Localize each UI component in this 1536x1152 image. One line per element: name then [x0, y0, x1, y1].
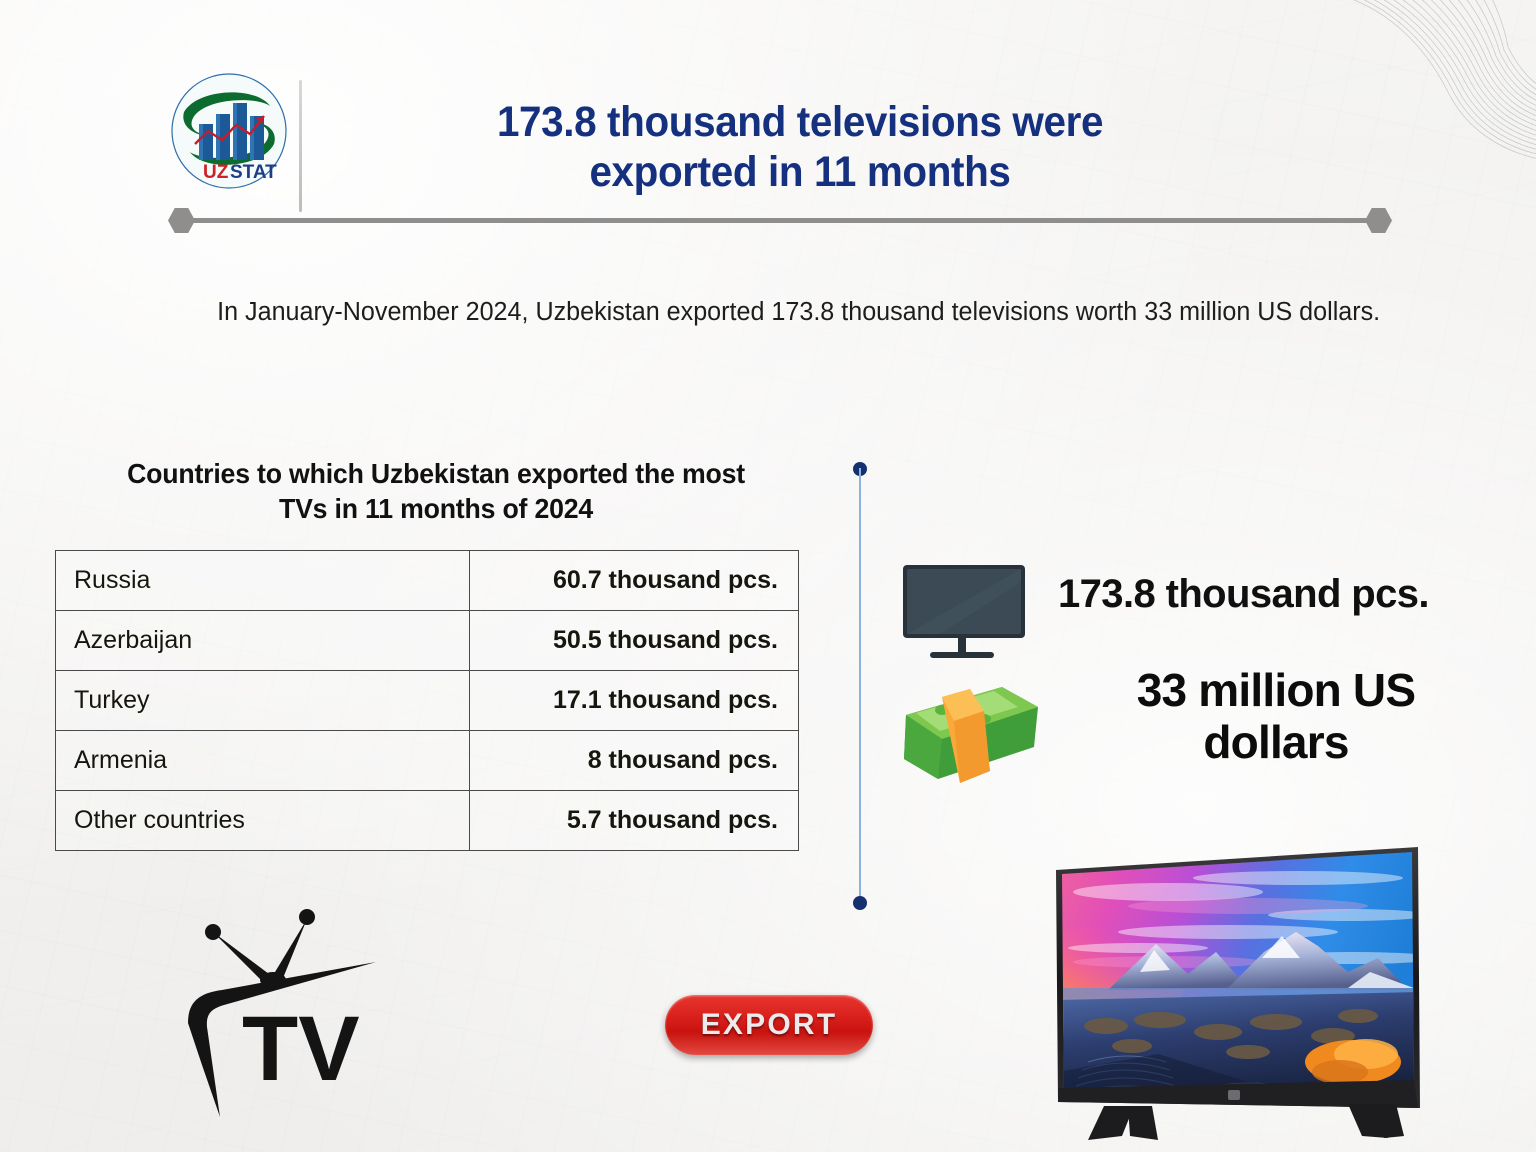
- logo-text-uz: UZ: [203, 162, 229, 183]
- stat-quantity-block: 173.8 thousand pcs.: [900, 560, 1520, 670]
- table-row: Turkey 17.1 thousand pcs.: [56, 671, 799, 731]
- table-cell-value: 8 thousand pcs.: [470, 731, 799, 791]
- page-title-line-1: 173.8 thousand televisions were: [358, 98, 1242, 148]
- intro-paragraph: In January-November 2024, Uzbekistan exp…: [160, 292, 1426, 332]
- export-badge-label: EXPORT: [701, 1008, 838, 1042]
- table-cell-value: 60.7 thousand pcs.: [470, 551, 799, 611]
- table-row: Armenia 8 thousand pcs.: [56, 731, 799, 791]
- logo-vertical-divider: [299, 80, 302, 212]
- stat-value-label-line-2: dollars: [1076, 717, 1476, 769]
- stat-quantity-label: 173.8 thousand pcs.: [1058, 572, 1518, 616]
- table-heading-line-1: Countries to which Uzbekistan exported t…: [42, 456, 830, 491]
- stat-value-label-line-1: 33 million US: [1076, 665, 1476, 717]
- export-badge-button[interactable]: EXPORT: [665, 995, 873, 1055]
- export-by-country-table: Russia 60.7 thousand pcs. Azerbaijan 50.…: [55, 550, 799, 851]
- divider-bar: [190, 218, 1370, 223]
- table-row: Other countries 5.7 thousand pcs.: [56, 791, 799, 851]
- logo-text-stat: STAT: [230, 162, 277, 183]
- tv-monitor-icon: [900, 562, 1028, 662]
- money-stack-icon: [898, 673, 1043, 793]
- vertical-connector-line: [851, 462, 869, 910]
- table-cell-country: Russia: [56, 551, 470, 611]
- table-cell-country: Azerbaijan: [56, 611, 470, 671]
- table-row: Russia 60.7 thousand pcs.: [56, 551, 799, 611]
- uzstat-logo: UZ STAT: [170, 72, 288, 190]
- tv-logo-label: TV: [242, 998, 360, 1100]
- table-row: Azerbaijan 50.5 thousand pcs.: [56, 611, 799, 671]
- table-heading-line-2: TVs in 11 months of 2024: [42, 491, 830, 526]
- retro-tv-logo-icon: TV: [180, 905, 390, 1120]
- decorative-swirl-lines: [1330, 0, 1536, 164]
- hex-cap-right-icon: [1365, 208, 1392, 233]
- table-cell-country: Armenia: [56, 731, 470, 791]
- table-cell-value: 50.5 thousand pcs.: [470, 611, 799, 671]
- table-heading: Countries to which Uzbekistan exported t…: [42, 456, 830, 526]
- table-cell-country: Other countries: [56, 791, 470, 851]
- stat-value-label: 33 million US dollars: [1076, 665, 1476, 768]
- flatscreen-tv-photo: [1048, 840, 1428, 1145]
- header-divider-rule: [168, 205, 1392, 235]
- page-title: 173.8 thousand televisions were exported…: [358, 98, 1242, 198]
- table-cell-country: Turkey: [56, 671, 470, 731]
- connector-line-segment: [859, 468, 861, 904]
- connector-dot-bottom-icon: [853, 896, 867, 910]
- page-title-line-2: exported in 11 months: [358, 148, 1242, 198]
- table-cell-value: 5.7 thousand pcs.: [470, 791, 799, 851]
- table-cell-value: 17.1 thousand pcs.: [470, 671, 799, 731]
- stat-value-block: 33 million US dollars: [898, 665, 1518, 825]
